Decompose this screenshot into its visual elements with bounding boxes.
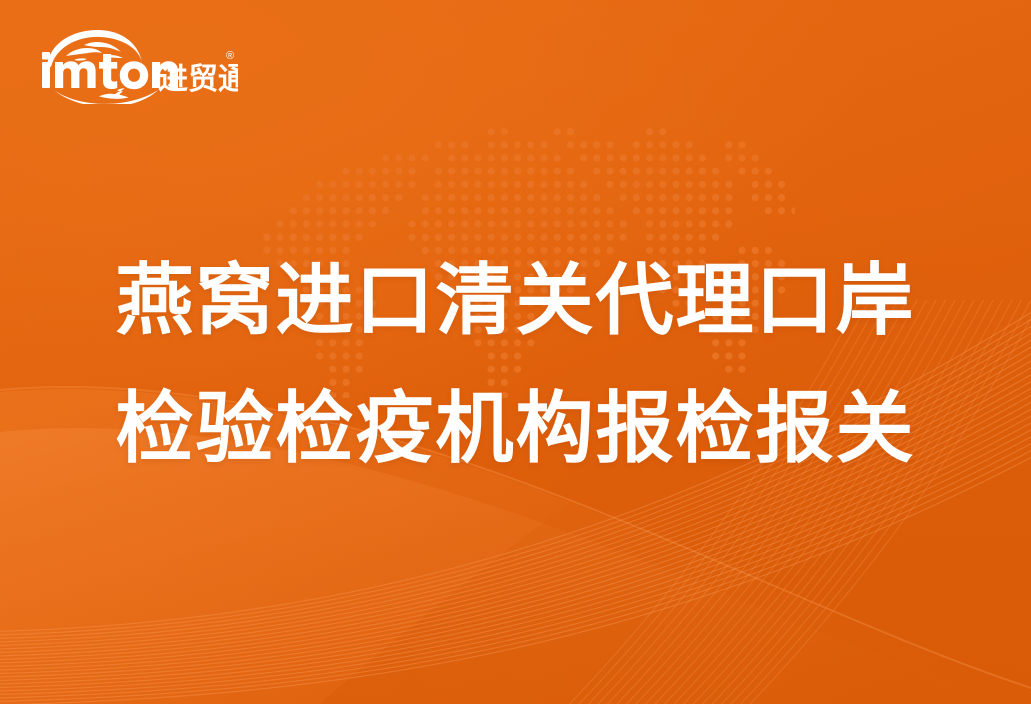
- brand-logo: 进贸通 ®: [38, 26, 238, 104]
- headline-line-2: 检验检疫机构报检报关: [0, 364, 1031, 492]
- promo-banner: 进贸通 ® 燕窝进口清关代理口岸 检验检疫机构报检报关: [0, 0, 1031, 704]
- swoosh-plane-icon: [54, 88, 158, 104]
- brand-chinese-text: 进贸通: [158, 63, 238, 96]
- headline-block: 燕窝进口清关代理口岸 检验检疫机构报检报关: [0, 236, 1031, 492]
- headline-line-1: 燕窝进口清关代理口岸: [0, 236, 1031, 364]
- trademark-symbol: ®: [226, 50, 234, 62]
- globe-arc-icon: [47, 30, 142, 67]
